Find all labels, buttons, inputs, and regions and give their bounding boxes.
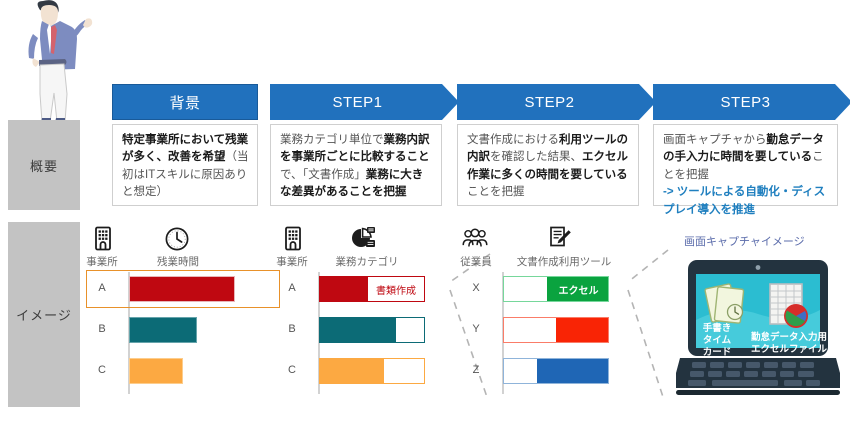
axis-label-value: 残業時間 [150,254,206,269]
step-body-step1: 業務カテゴリ単位で業務内訳を事業所ごとに比較することで、「文書作成」業務に大きな… [270,124,442,206]
axis-label-category: 事業所 [272,254,312,269]
step-header-label: STEP2 [524,94,574,111]
chart-category-c: C [89,364,115,376]
chart-category-a: A [279,282,305,294]
bar-task-c [319,358,425,384]
bar-segment-other [320,277,368,301]
capture-image-title: 画面キャプチャイメージ [684,233,805,249]
chart-category-y: Y [463,323,489,335]
building-icon [90,226,116,252]
bar-tools-z [503,358,609,384]
pie-chart-doc-icon [350,226,376,252]
step-header-label: STEP1 [332,94,382,111]
capture-label-excelfile: 勤怠データ入力用 エクセルファイル [740,332,838,356]
axis-label-category: 事業所 [82,254,122,269]
step-header-label: STEP3 [720,94,770,111]
chart-category-z: Z [463,364,489,376]
axis-label-value: 文書作成利用ツール [504,254,624,269]
bar-overtime-c [129,358,183,384]
bar-overtime-b [129,317,197,343]
rail-label-overview: 概要 [8,120,80,210]
bar-overtime-a [129,276,235,302]
step-header-step2[interactable]: STEP2 [457,84,656,120]
chart-category-b: B [89,323,115,335]
axis-label-category: 従業員 [454,254,498,269]
rail-label-image: イメージ [8,222,80,407]
businessman-illustration [2,0,94,124]
step-body-background: 特定事業所において残業が多く、改善を希望（当初はITスキルに原因ありと想定） [112,124,258,206]
step-header-step1[interactable]: STEP1 [270,84,459,120]
bar-segment-excel [556,318,608,342]
slide-canvas: 概要 イメージ 背景 STEP1 STEP2 STEP3 特定事業所において残業… [0,0,850,440]
chart-category-x: X [463,282,489,294]
connector-step2-step3 [612,248,668,408]
rail-overview-text: 概要 [30,156,58,175]
chart-category-b: B [279,323,305,335]
bar-segment-other [320,359,384,383]
bar-task-a: 書類作成 [319,276,425,302]
chart-category-c: C [279,364,305,376]
step-header-background[interactable]: 背景 [112,84,258,120]
bar-segment-excel [537,359,608,383]
step-body-step2: 文書作成における利用ツールの内訳を確認した結果、エクセル作業に多くの時間を要して… [457,124,639,206]
bar-segment-label-doc: 書類作成 [368,277,424,301]
chart-task-category: 事業所 業務カテゴリ A B C 書類作成 [278,226,458,406]
bar-tools-y [503,317,609,343]
people-icon [462,226,488,252]
bar-task-b [319,317,425,343]
document-pen-icon [546,226,572,252]
step-header-label: 背景 [169,92,200,113]
clock-icon [164,226,190,252]
rail-image-text: イメージ [16,305,72,324]
capture-label-timecard: 手書き タイム カード [690,323,744,359]
step-body-step3: 画面キャプチャから勤怠データの手入力に時間を要していることを把握-> ツールによ… [653,124,838,206]
chart-overtime: 事業所 残業時間 A B C [88,226,278,406]
bar-tools-x: エクセル [503,276,609,302]
bar-segment-label-excel: エクセル [549,277,608,301]
axis-label-value: 業務カテゴリ [322,254,412,269]
step-header-step3[interactable]: STEP3 [653,84,850,120]
building-icon [280,226,306,252]
bar-segment-other [320,318,396,342]
